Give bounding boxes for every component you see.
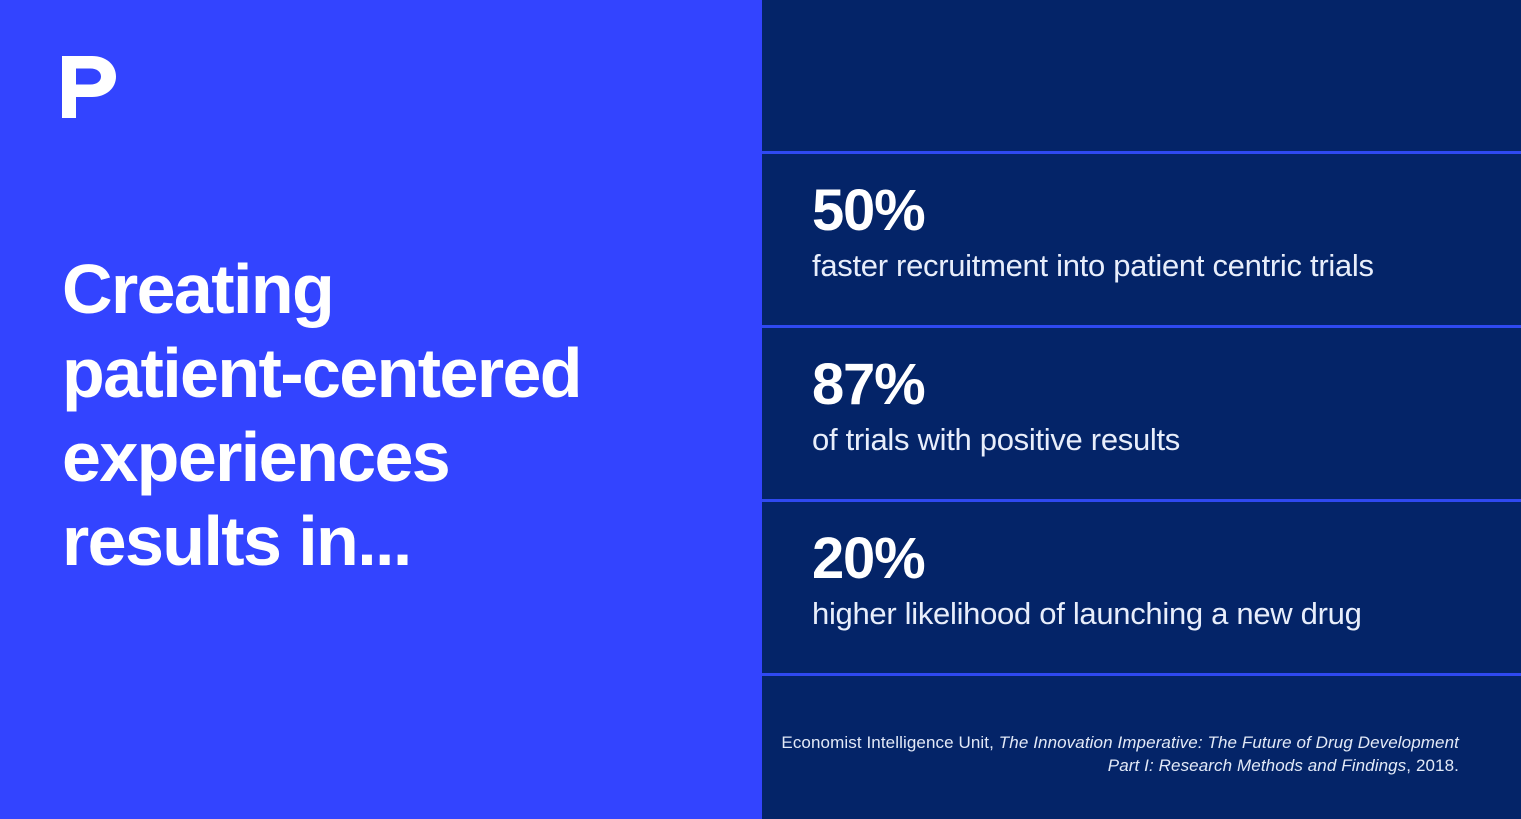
divider-bottom (762, 673, 1521, 676)
headline-line-4: results in... (62, 499, 702, 583)
stat-value-1: 50% (812, 178, 1481, 244)
source-suffix: , 2018. (1406, 756, 1459, 775)
source-title: The Innovation Imperative: The Future of… (999, 733, 1459, 775)
source-prefix: Economist Intelligence Unit, (781, 733, 998, 752)
stats-list: 50% faster recruitment into patient cent… (762, 151, 1521, 676)
right-panel: 50% faster recruitment into patient cent… (762, 0, 1521, 819)
headline-line-2: patient-centered (62, 331, 702, 415)
stat-item-2: 87% of trials with positive results (762, 328, 1521, 499)
stat-label-1: faster recruitment into patient centric … (812, 246, 1481, 286)
slide-root: Creating patient-centered experiences re… (0, 0, 1521, 819)
stat-item-3: 20% higher likelihood of launching a new… (762, 502, 1521, 673)
stat-item-1: 50% faster recruitment into patient cent… (762, 154, 1521, 325)
brand-logo-p-icon (62, 56, 116, 118)
page-title: Creating patient-centered experiences re… (62, 247, 702, 583)
left-panel: Creating patient-centered experiences re… (0, 0, 762, 819)
stat-value-2: 87% (812, 352, 1481, 418)
source-citation: Economist Intelligence Unit, The Innovat… (762, 731, 1459, 777)
stat-value-3: 20% (812, 526, 1481, 592)
headline-line-1: Creating (62, 247, 702, 331)
stat-label-3: higher likelihood of launching a new dru… (812, 594, 1481, 634)
headline-line-3: experiences (62, 415, 702, 499)
stat-label-2: of trials with positive results (812, 420, 1481, 460)
